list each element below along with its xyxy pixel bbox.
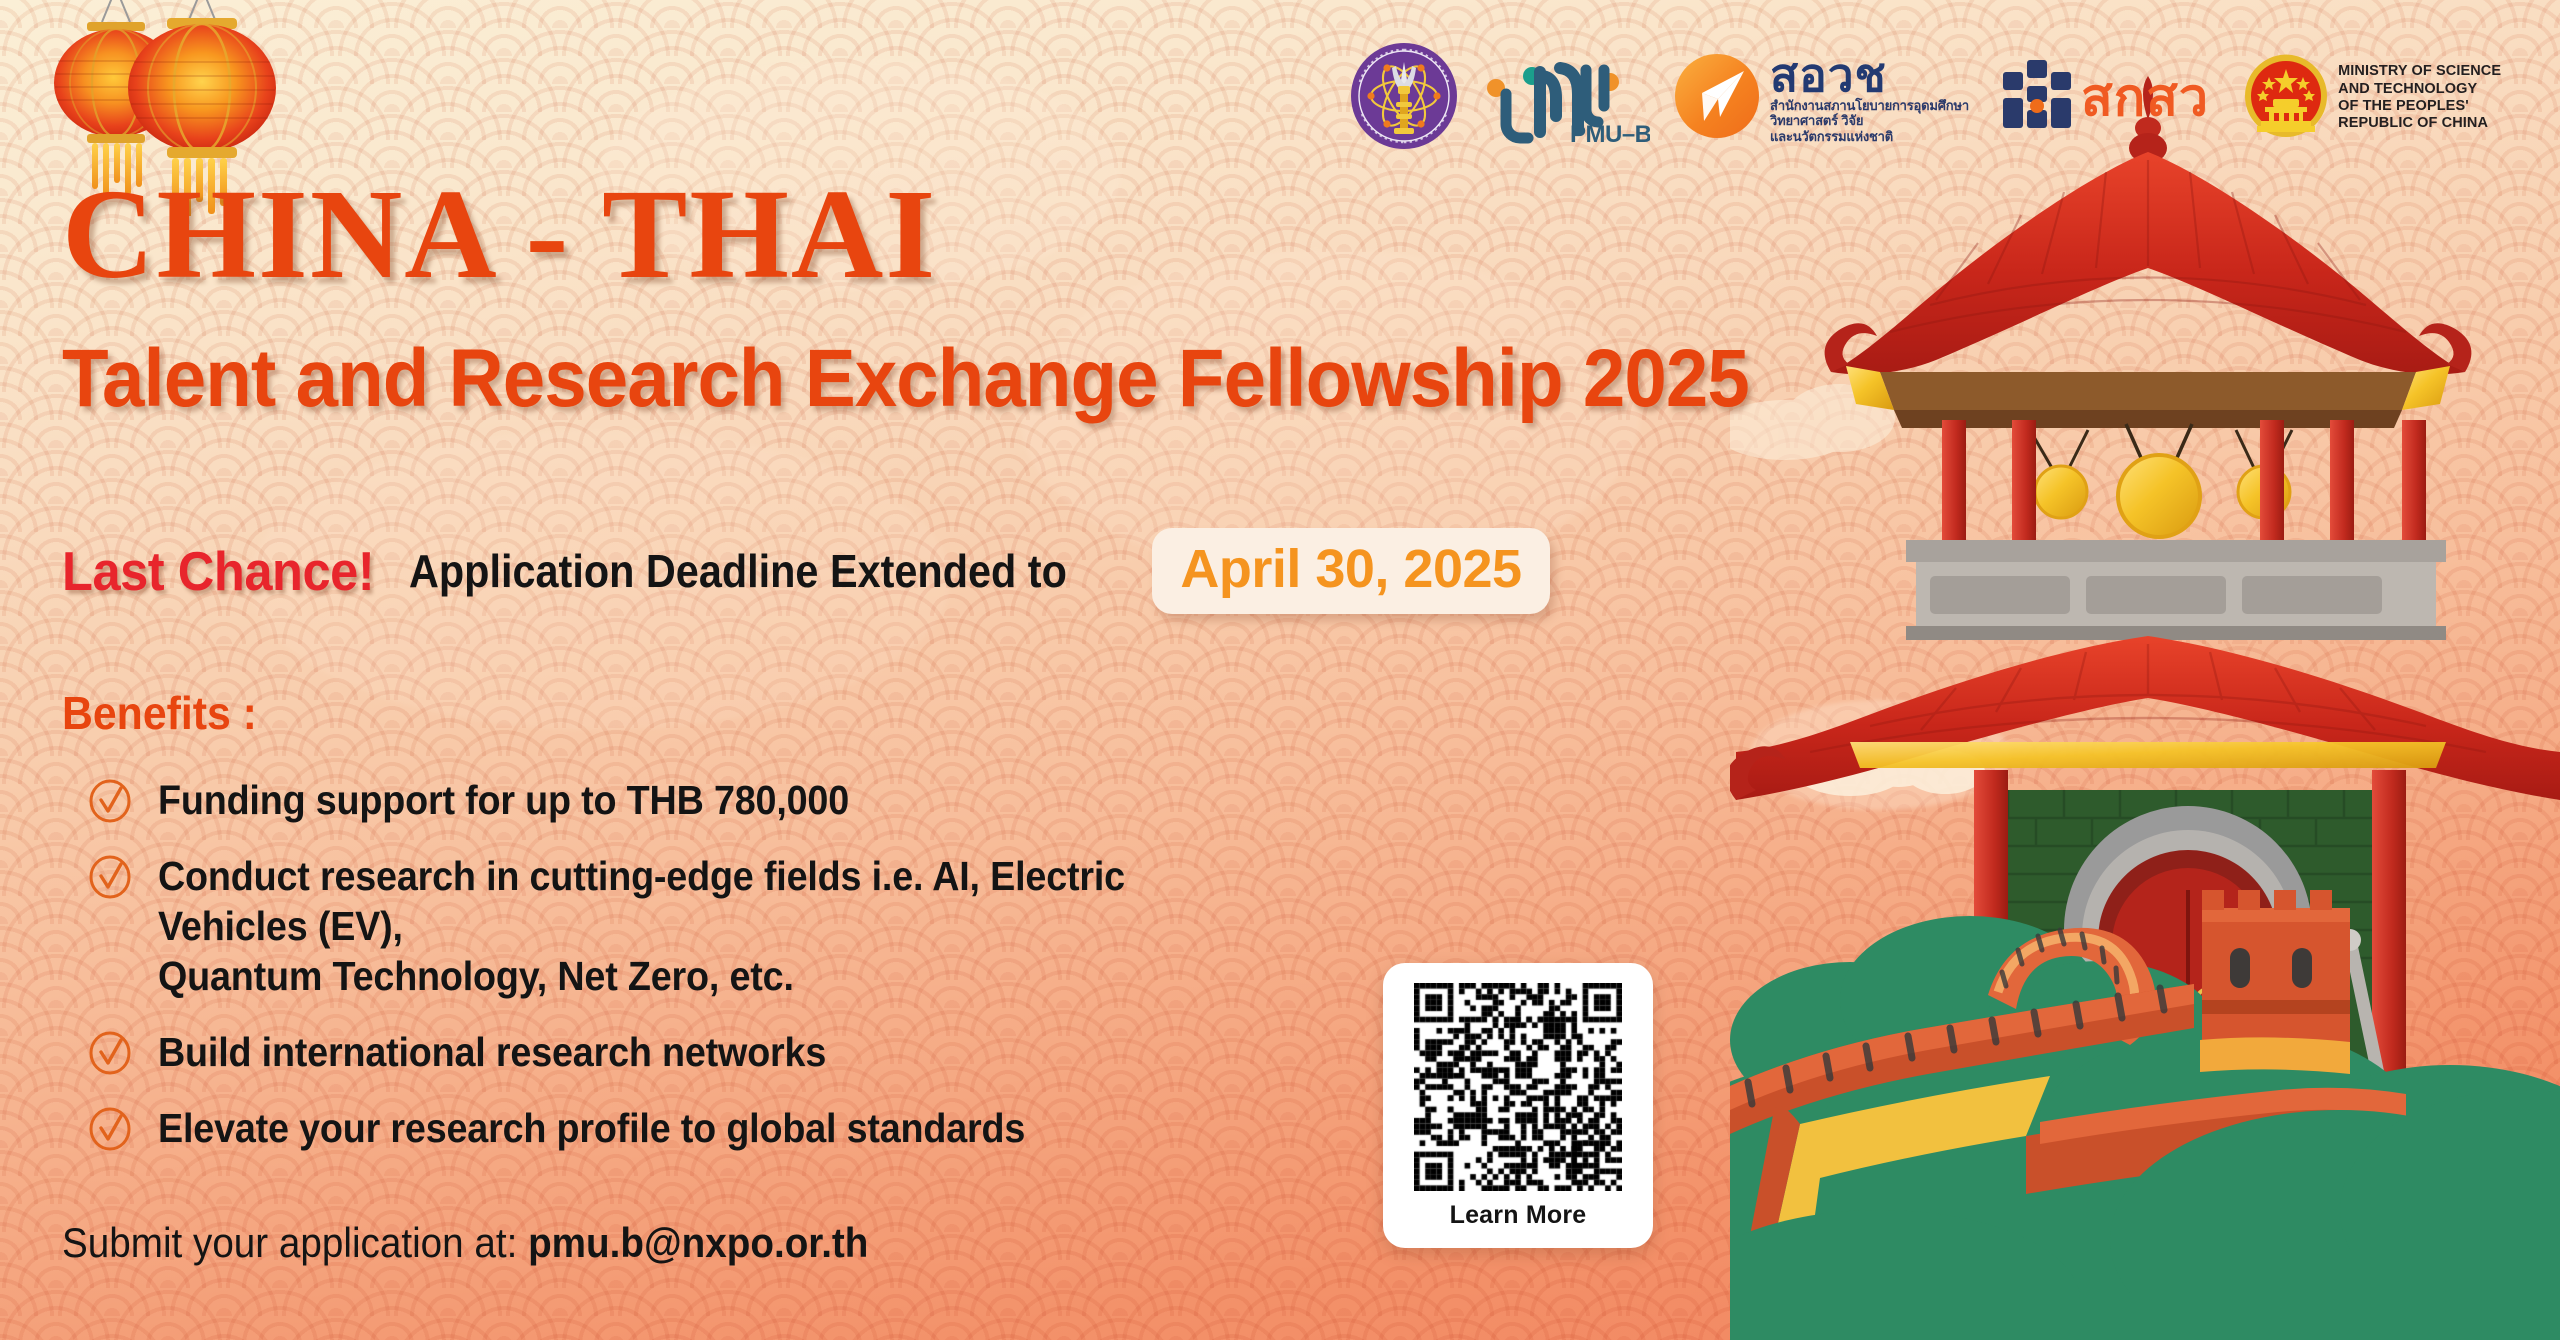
page-title-line2: Talent and Research Exchange Fellowship … xyxy=(62,338,1749,420)
most-china-label: MINISTRY OF SCIENCE AND TECHNOLOGY OF TH… xyxy=(2338,63,2501,133)
deadline-date: April 30, 2025 xyxy=(1180,542,1521,596)
deadline-date-badge: April 30, 2025 xyxy=(1152,528,1549,614)
qr-code-card[interactable]: Learn More xyxy=(1383,963,1653,1248)
pagoda-eave-band xyxy=(1880,372,2416,410)
great-wall-watchtower xyxy=(2202,890,2350,1046)
benefit-text: Build international research networks xyxy=(158,1027,826,1077)
benefit-item: Elevate your research profile to global … xyxy=(88,1103,1358,1153)
nxpo-arrow-logo-icon xyxy=(1674,53,1760,144)
svg-text:PMU–B: PMU–B xyxy=(1570,121,1650,146)
pmu-b-logo-icon: PMU–B xyxy=(1482,46,1650,151)
china-national-emblem-icon xyxy=(2243,53,2329,144)
pagoda-balustrade xyxy=(1906,540,2446,640)
nxpo-thai-fullname: สำนักงานสภานโยบายการอุดมศึกษา วิทยาศาสตร… xyxy=(1770,98,1969,144)
submit-application-line: Submit your application at: pmu.b@nxpo.o… xyxy=(62,1222,868,1264)
logo-mhesi-seal xyxy=(1350,42,1458,154)
skso-logo-icon xyxy=(1999,56,2077,141)
check-circle-icon xyxy=(88,855,132,899)
mhesi-circular-seal-icon xyxy=(1350,42,1458,155)
check-circle-icon xyxy=(88,1031,132,1075)
deadline-row: Last Chance! Application Deadline Extend… xyxy=(62,528,1550,614)
benefit-item: Conduct research in cutting-edge fields … xyxy=(88,851,1358,1001)
logo-most-china: MINISTRY OF SCIENCE AND TECHNOLOGY OF TH… xyxy=(2243,42,2501,154)
deadline-label: Application Deadline Extended to xyxy=(409,548,1067,594)
benefit-item: Funding support for up to THB 780,000 xyxy=(88,775,1358,825)
qr-code-label: Learn More xyxy=(1450,1201,1587,1230)
nxpo-thai-abbrev: สอวช xyxy=(1770,52,1969,98)
benefit-text: Conduct research in cutting-edge fields … xyxy=(158,851,1262,1001)
check-circle-icon xyxy=(88,1107,132,1151)
benefit-text: Funding support for up to THB 780,000 xyxy=(158,775,849,825)
submit-email[interactable]: pmu.b@nxpo.or.th xyxy=(528,1219,868,1266)
qr-code-icon[interactable] xyxy=(1414,983,1622,1191)
logo-skso: สกสว xyxy=(1999,42,2209,154)
hanging-gold-ornaments xyxy=(2030,424,2292,537)
china-landmark-illustration xyxy=(1730,0,2560,1340)
skso-thai-abbrev: สกสว xyxy=(2081,72,2209,124)
promotional-banner: PMU–B สอวช xyxy=(0,0,2560,1340)
check-circle-icon xyxy=(88,779,132,823)
logo-pmu-b: PMU–B xyxy=(1482,42,1650,154)
submit-prefix: Submit your application at: xyxy=(62,1219,528,1266)
partner-logo-row: PMU–B สอวช xyxy=(1350,38,2501,158)
last-chance-badge: Last Chance! xyxy=(62,544,374,599)
benefit-item: Build international research networks xyxy=(88,1027,1358,1077)
page-title-line1: CHINA - THAI xyxy=(62,170,937,298)
benefits-list: Funding support for up to THB 780,000 Co… xyxy=(88,775,1358,1179)
logo-nxpo-sonp: สอวช สำนักงานสภานโยบายการอุดมศึกษา วิทยา… xyxy=(1674,42,1969,154)
benefit-text: Elevate your research profile to global … xyxy=(158,1103,1025,1153)
benefits-heading: Benefits : xyxy=(62,690,257,736)
